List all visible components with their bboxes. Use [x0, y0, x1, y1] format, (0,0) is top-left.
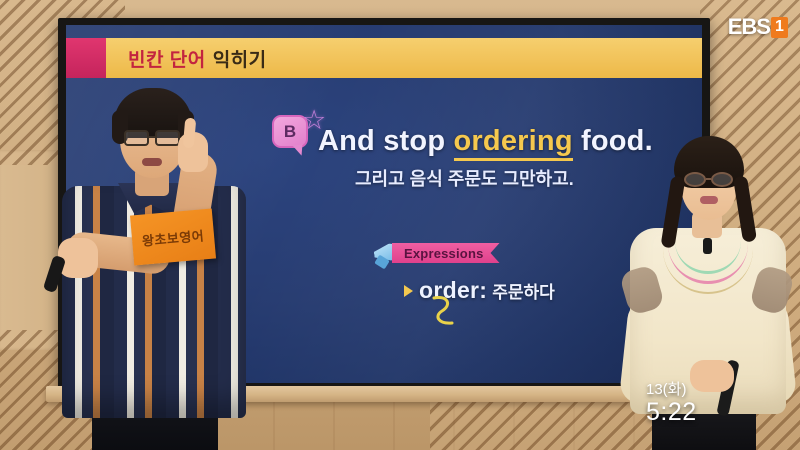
clock-overlay: 13(화) 5:22 [646, 382, 697, 425]
channel-logo: EBS 1 [728, 14, 788, 40]
male-glasses-right [155, 130, 180, 146]
banner-pink-tab [66, 38, 110, 78]
female-glasses-right [711, 172, 733, 187]
male-glasses-bridge [149, 136, 155, 138]
female-lapel-mic [703, 238, 712, 254]
lesson-title-text: 빈칸 단어익히기 [128, 45, 267, 72]
sentence-part-1: And stop [318, 125, 454, 157]
sentence-highlight-word: ordering [454, 125, 573, 161]
speaker-label: B [284, 123, 296, 140]
lesson-sentence: And stop ordering food. [318, 125, 653, 158]
male-glasses-left [124, 130, 149, 146]
female-glasses-left [684, 172, 706, 187]
speaker-bubble-tail [292, 145, 303, 157]
male-mouth [142, 158, 162, 166]
clock-date: 13(화) [646, 382, 697, 397]
clock-time: 5:22 [646, 400, 697, 425]
female-glasses-bridge [706, 178, 711, 180]
expression-entry: order: 주문하다 [404, 277, 555, 304]
broadcast-screen: 빈칸 단어익히기 B ☆ And stop ordering food. 그리고… [0, 0, 800, 450]
expressions-ribbon: Expressions [392, 243, 500, 263]
lesson-title-dark: 익히기 [213, 50, 267, 71]
prop-card: 왕초보영어 [130, 209, 216, 266]
sentence-part-2: food. [573, 125, 653, 157]
lesson-title-banner: 빈칸 단어익히기 [106, 38, 702, 78]
expression-korean: 주문하다 [492, 278, 555, 303]
lesson-sentence-korean: 그리고 음식 주문도 그만하고. [355, 165, 574, 191]
expressions-ribbon-label: Expressions [404, 246, 484, 261]
female-mouth [700, 196, 718, 204]
triangle-bullet-icon [404, 285, 413, 297]
squiggle-doodle-icon [430, 293, 466, 329]
lesson-title-red: 빈칸 단어 [128, 50, 206, 71]
prop-card-text: 왕초보영어 [141, 225, 205, 249]
channel-number: 1 [771, 17, 788, 38]
channel-name: EBS [728, 14, 770, 40]
